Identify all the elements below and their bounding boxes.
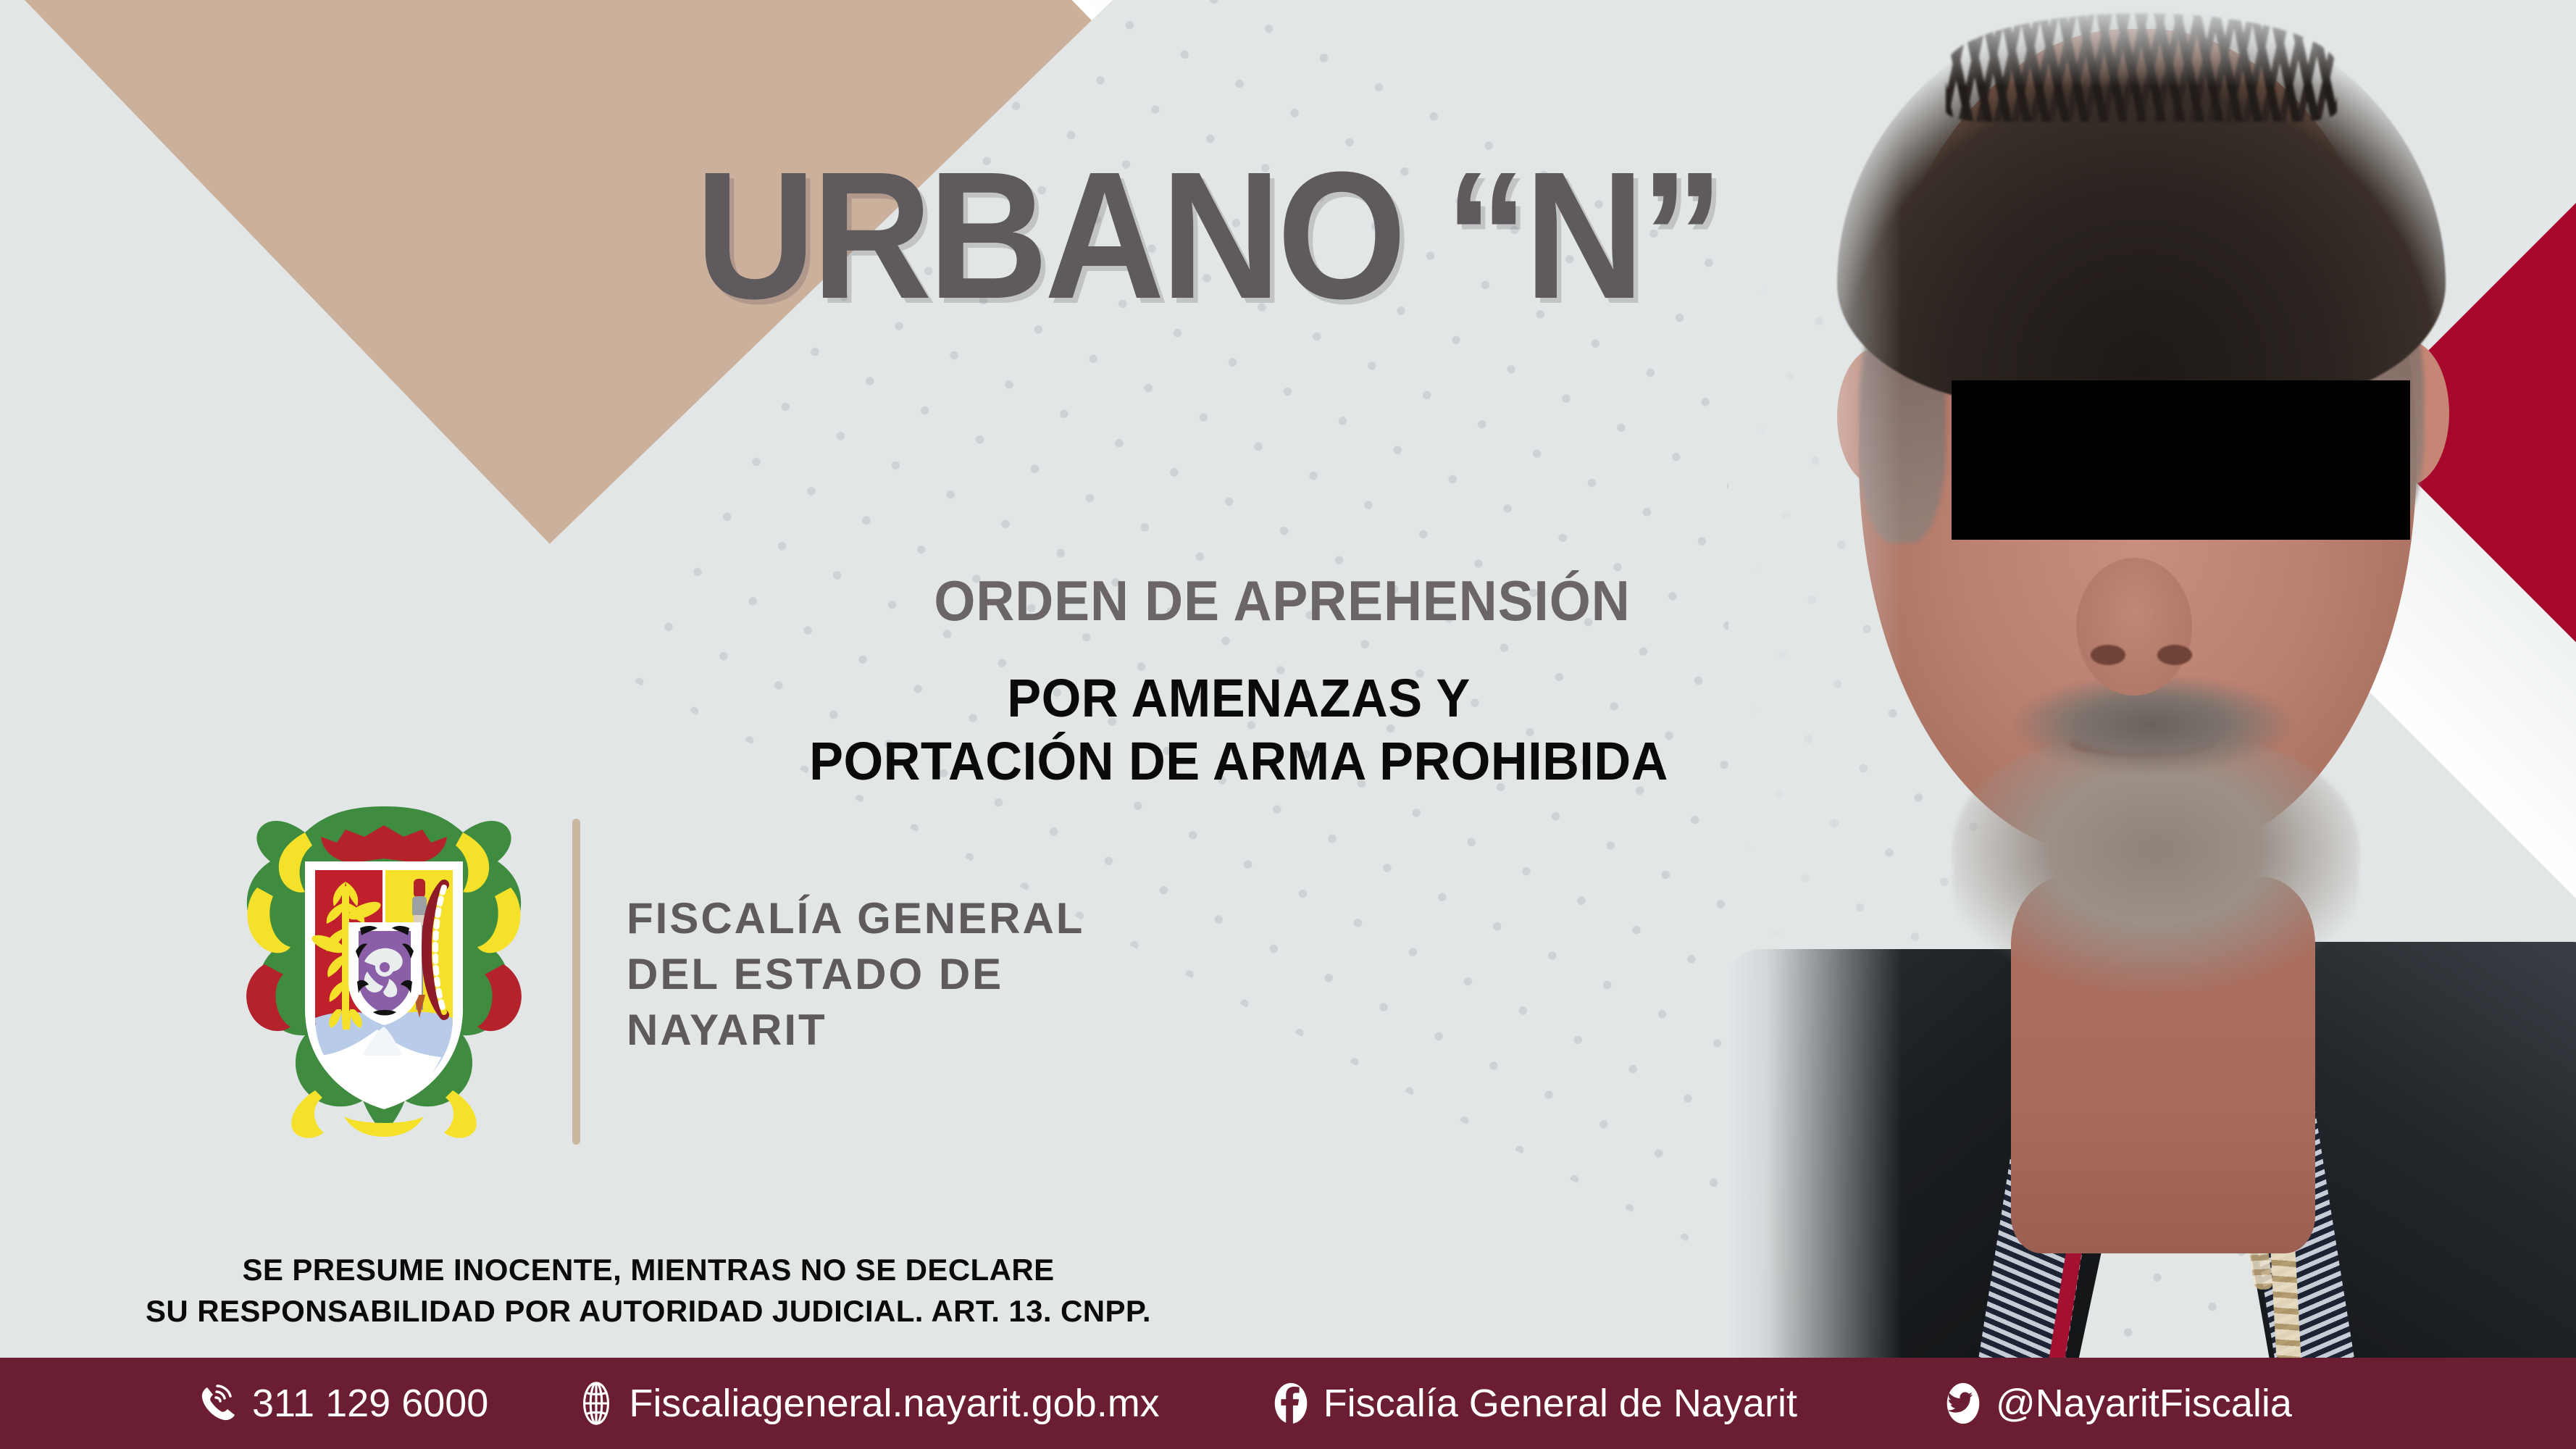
suspect-photo: [1728, 0, 2576, 1358]
photo-top-fade: [1728, 0, 2576, 87]
shirt-red-stripe: [2047, 1188, 2092, 1358]
sideburn-right: [2330, 290, 2424, 536]
institution-name: FISCALÍA GENERAL DEL ESTADO DE NAYARIT: [627, 891, 1084, 1058]
neck-chain: [2259, 1043, 2301, 1358]
moustache: [2015, 674, 2290, 775]
beard: [1953, 739, 2359, 1029]
face: [1859, 29, 2417, 855]
hair: [1837, 0, 2446, 406]
sideburn-left: [1859, 304, 1946, 543]
page-title: URBANO “N”: [695, 145, 1762, 326]
wanted-poster: URBANO “N” ORDEN DE APREHENSIÓN POR AMEN…: [0, 0, 2576, 1449]
phone-icon: [196, 1380, 242, 1427]
globe-icon: [574, 1381, 619, 1426]
facebook-icon: [1268, 1381, 1313, 1426]
hair-spikes: [1946, 13, 2337, 122]
footer-facebook-label: Fiscalía General de Nayarit: [1323, 1381, 1797, 1426]
charges: POR AMENAZAS Y PORTACIÓN DE ARMA PROHIBI…: [750, 667, 1728, 793]
neck-chain-secondary: [2217, 1014, 2274, 1290]
footer-phone[interactable]: 311 129 6000: [196, 1380, 488, 1427]
nayarit-coat-of-arms: [235, 801, 532, 1141]
right-white-slash: [2228, 422, 2576, 1268]
footer-twitter-label: @NayaritFiscalia: [1996, 1381, 2292, 1426]
right-edge-diagonal-accent: [2228, 90, 2576, 1268]
nostril-right: [2157, 645, 2192, 665]
crest-text-divider: [572, 819, 580, 1145]
mouth: [2069, 732, 2214, 756]
legal-disclaimer: SE PRESUME INOCENTE, MIENTRAS NO SE DECL…: [0, 1250, 1297, 1332]
institution-line-3: NAYARIT: [627, 1003, 1084, 1058]
footer-website[interactable]: Fiscaliageneral.nayarit.gob.mx: [574, 1381, 1159, 1426]
nose: [2076, 558, 2192, 696]
institution-line-1: FISCALÍA GENERAL: [627, 891, 1084, 947]
white-diagonal-band-1: [35, 0, 1284, 20]
charge-line-2: PORTACIÓN DE ARMA PROHIBIDA: [750, 730, 1728, 793]
jacket-right: [2196, 942, 2576, 1358]
beige-band-shadow: [35, 0, 1105, 20]
jacket-left: [1728, 949, 2166, 1358]
disclaimer-line-2: SU RESPONSABILIDAD POR AUTORIDAD JUDICIA…: [0, 1291, 1297, 1332]
shirt-right: [2225, 1043, 2355, 1358]
footer-facebook[interactable]: Fiscalía General de Nayarit: [1268, 1381, 1797, 1426]
nostril-left: [2091, 645, 2125, 665]
shirt-left: [1978, 1036, 2116, 1358]
institution-line-2: DEL ESTADO DE: [627, 947, 1084, 1003]
footer-phone-label: 311 129 6000: [252, 1381, 488, 1426]
ear-left: [1837, 348, 1917, 485]
twitter-icon: [1941, 1381, 1986, 1426]
footer-website-label: Fiscaliageneral.nayarit.gob.mx: [629, 1381, 1159, 1426]
right-red-slash: [2357, 105, 2576, 1140]
footer-twitter[interactable]: @NayaritFiscalia: [1941, 1381, 2292, 1426]
dot-pattern-mask: [1826, 0, 2576, 1007]
ear-right: [2366, 341, 2449, 485]
eye-censor-bar: [1952, 380, 2410, 540]
order-label: ORDEN DE APREHENSIÓN: [840, 572, 1725, 629]
charge-line-1: POR AMENAZAS Y: [750, 667, 1728, 730]
contact-footer-bar: 311 129 6000 Fiscaliageneral.nayarit.gob…: [0, 1358, 2576, 1449]
neck: [2011, 877, 2315, 1253]
disclaimer-line-1: SE PRESUME INOCENTE, MIENTRAS NO SE DECL…: [0, 1250, 1297, 1291]
